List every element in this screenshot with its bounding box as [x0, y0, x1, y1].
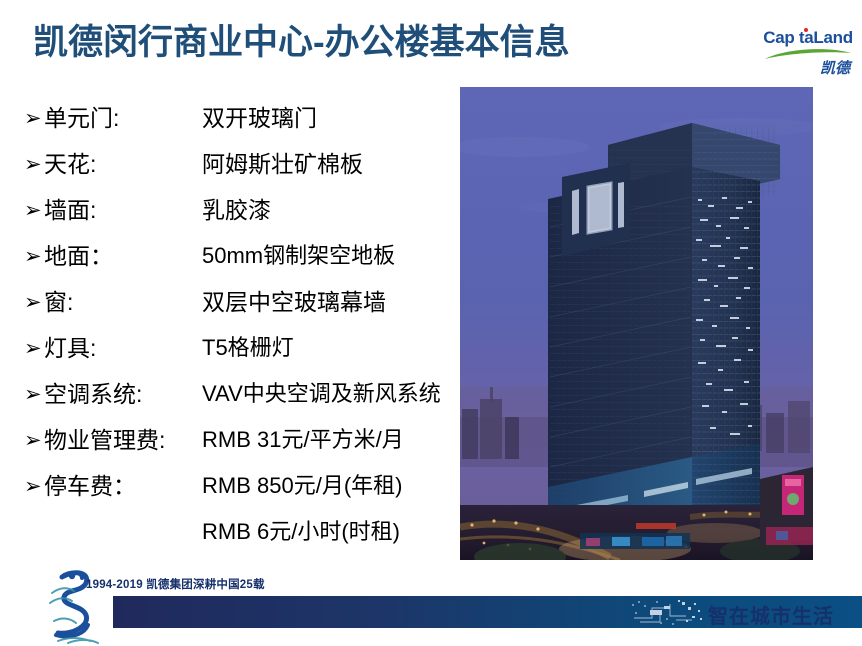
spec-value: RMB 31元/平方米/月 [202, 420, 404, 460]
bullet-arrow-icon: ➢ [24, 466, 44, 506]
bullet-arrow-icon: ➢ [24, 236, 44, 276]
spec-label: 停车费： [44, 466, 202, 506]
spec-row: ➢ 物业管理费: RMB 31元/平方米/月 [24, 420, 494, 466]
spec-row: ➢ 空调系统: VAV中央空调及新风系统 [24, 374, 494, 420]
page-title: 凯德闵行商业中心-办公楼基本信息 [33, 24, 733, 63]
bullet-arrow-icon: ➢ [24, 98, 44, 138]
spec-value: RMB 850元/月(年租) [202, 466, 402, 506]
spec-value: VAV中央空调及新风系统 [202, 374, 441, 414]
spec-row: ➢ 地面： 50mm钢制架空地板 [24, 236, 494, 282]
bullet-arrow-icon: ➢ [24, 144, 44, 184]
bullet-arrow-icon: ➢ [24, 282, 44, 322]
spec-row: ➢ 天花: 阿姆斯壮矿棉板 [24, 144, 494, 190]
spec-value: RMB 6元/小时(时租) [202, 512, 400, 552]
bullet-arrow-icon: ➢ [24, 190, 44, 230]
office-tower-photo [460, 87, 813, 560]
slide-canvas: 凯德闵行商业中心-办公楼基本信息 Cap taLand 凯德 ➢ 单元门: 双开… [0, 0, 862, 646]
spec-value: 双开玻璃门 [202, 98, 317, 138]
spec-row: ➢ 单元门: 双开玻璃门 [24, 98, 494, 144]
circuit-pattern-icon [630, 598, 708, 626]
logo-wordmark: Cap taLand [758, 28, 858, 48]
bullet-arrow-icon: ➢ [24, 374, 44, 414]
logo-chinese-name: 凯德 [758, 57, 858, 78]
bullet-arrow-icon: ➢ [24, 420, 44, 460]
capitaland-logo: Cap taLand 凯德 [758, 26, 858, 82]
spec-value: T5格栅灯 [202, 328, 294, 368]
bullet-arrow-icon: ➢ [24, 328, 44, 368]
spec-value: 双层中空玻璃幕墙 [202, 282, 386, 322]
spec-label: 窗: [44, 282, 202, 322]
spec-label: 灯具: [44, 328, 202, 368]
spec-row: ➢ 墙面: 乳胶漆 [24, 190, 494, 236]
spec-label: 单元门: [44, 98, 202, 138]
spec-row: ➢ 窗: 双层中空玻璃幕墙 [24, 282, 494, 328]
spec-label: 地面： [44, 236, 202, 276]
logo-red-dot-icon [804, 28, 808, 32]
spec-row-continuation: RMB 6元/小时(时租) [24, 512, 494, 558]
spec-label: 墙面: [44, 190, 202, 230]
spec-row: ➢ 停车费： RMB 850元/月(年租) [24, 466, 494, 512]
footer-slogan: 智在城市生活 [708, 600, 834, 629]
spec-label: 物业管理费: [44, 420, 202, 460]
spec-label: 空调系统: [44, 374, 202, 414]
spec-list: ➢ 单元门: 双开玻璃门 ➢ 天花: 阿姆斯壮矿棉板 ➢ 墙面: 乳胶漆 ➢ 地… [24, 98, 494, 558]
spec-value: 阿姆斯壮矿棉板 [202, 144, 363, 184]
spec-value: 50mm钢制架空地板 [202, 236, 395, 276]
spec-label: 天花: [44, 144, 202, 184]
spec-value: 乳胶漆 [202, 190, 271, 230]
anniversary-text: 1994-2019 凯德集团深耕中国25载 [86, 576, 265, 592]
spec-row: ➢ 灯具: T5格栅灯 [24, 328, 494, 374]
